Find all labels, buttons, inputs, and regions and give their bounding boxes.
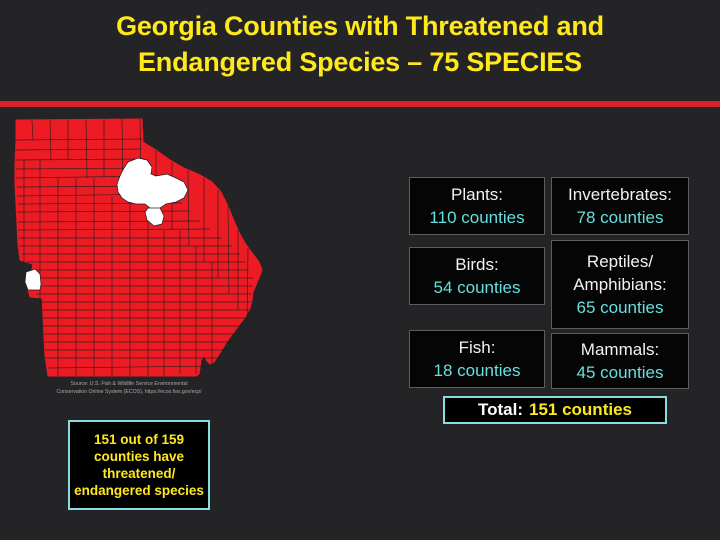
slide-root: Georgia Counties with Threatened and End… xyxy=(0,0,720,540)
stat-value-reptiles-amphibians: 65 counties xyxy=(577,296,664,319)
georgia-county-map xyxy=(4,112,296,390)
stat-box-invertebrates: Invertebrates: 78 counties xyxy=(551,177,689,235)
stat-label-birds: Birds: xyxy=(455,253,498,276)
total-box: Total: 151 counties xyxy=(443,396,667,424)
callout-text: 151 out of 159 counties have threatened/… xyxy=(70,431,208,499)
stat-label-fish: Fish: xyxy=(459,336,496,359)
stat-value-plants: 110 counties xyxy=(429,206,524,229)
stat-box-birds: Birds: 54 counties xyxy=(409,247,545,305)
page-title: Georgia Counties with Threatened and End… xyxy=(0,8,720,80)
stat-label-mammals: Mammals: xyxy=(581,338,659,361)
callout-box: 151 out of 159 counties have threatened/… xyxy=(68,420,210,510)
stat-box-plants: Plants: 110 counties xyxy=(409,177,545,235)
stat-label-invertebrates: Invertebrates: xyxy=(568,183,672,206)
total-label: Total: xyxy=(478,400,523,420)
map-state-body xyxy=(15,119,262,376)
title-line-1: Georgia Counties with Threatened and xyxy=(0,8,720,44)
stat-label-plants: Plants: xyxy=(451,183,503,206)
total-value: 151 counties xyxy=(529,400,632,420)
stat-value-birds: 54 counties xyxy=(434,276,521,299)
stat-value-mammals: 45 counties xyxy=(577,361,664,384)
map-source-line-1: Source: U.S. Fish & Wildlife Service Env… xyxy=(14,381,244,389)
title-divider xyxy=(0,101,720,107)
title-line-2: Endangered Species – 75 SPECIES xyxy=(0,44,720,80)
stat-value-invertebrates: 78 counties xyxy=(577,206,664,229)
map-source-line-2: Conservation Online System (ECOS), https… xyxy=(14,389,244,397)
stat-box-fish: Fish: 18 counties xyxy=(409,330,545,388)
stat-box-reptiles-amphibians: Reptiles/ Amphibians: 65 counties xyxy=(551,240,689,329)
map-svg xyxy=(4,112,296,390)
map-source-note: Source: U.S. Fish & Wildlife Service Env… xyxy=(14,381,244,396)
stat-box-mammals: Mammals: 45 counties xyxy=(551,333,689,389)
stat-value-fish: 18 counties xyxy=(434,359,521,382)
stat-label-reptiles-amphibians: Reptiles/ Amphibians: xyxy=(573,250,667,296)
